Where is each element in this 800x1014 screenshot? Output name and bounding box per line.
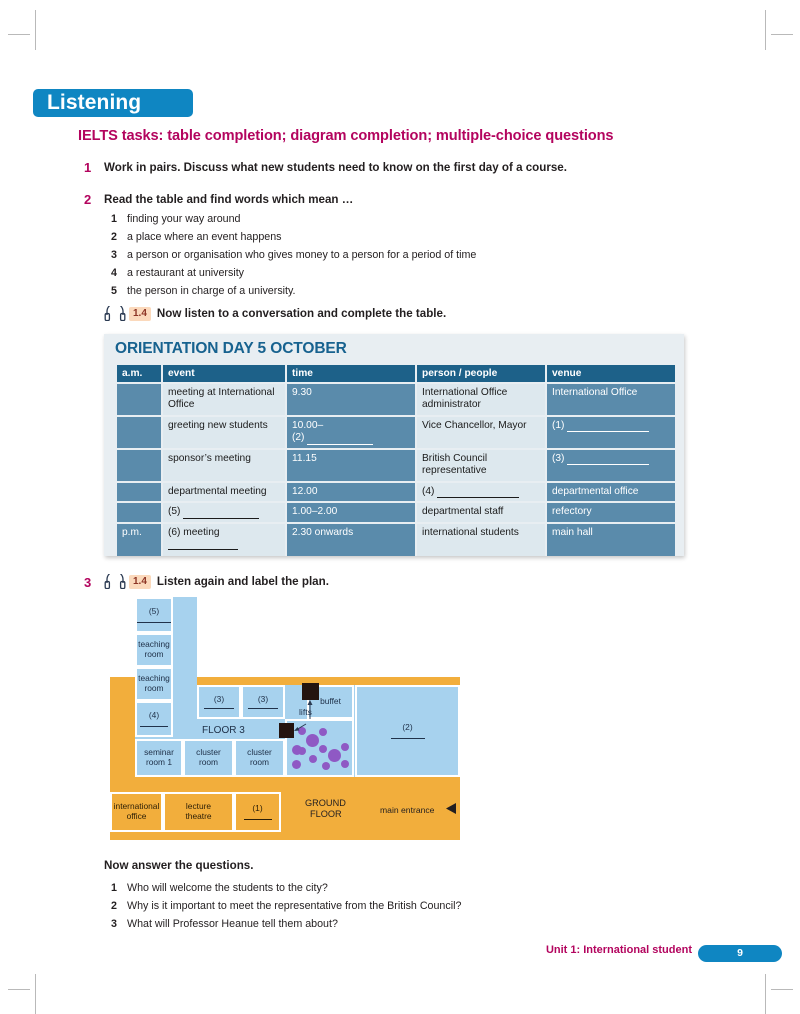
answer-blank[interactable] [567, 464, 649, 465]
answer-blank[interactable] [437, 497, 519, 498]
word-meaning-4-text: a restaurant at university [127, 267, 244, 279]
word-meaning-4-number: 4 [111, 267, 117, 279]
answer-blank[interactable] [307, 444, 373, 445]
cell-time-text: 10.00– [292, 420, 323, 431]
cell-venue-blank[interactable]: (3) [547, 450, 675, 481]
answer-blank[interactable] [168, 549, 238, 550]
cell-event-blank[interactable]: (5) [163, 503, 285, 521]
col-header-person: person / people [417, 365, 545, 382]
answer-blank[interactable] [183, 518, 259, 519]
col-header-event: event [163, 365, 285, 382]
cell-venue: International Office [547, 384, 675, 415]
audio-cue-text: Listen again and label the plan. [157, 575, 329, 588]
headphones-icon [104, 574, 126, 589]
question-1-number: 1 [111, 882, 117, 894]
page-number-badge: 9 [698, 945, 782, 962]
audio-track-badge: 1.4 [129, 307, 151, 321]
word-meaning-5-number: 5 [111, 285, 117, 297]
cell-venue: refectory [547, 503, 675, 521]
cell-person-blank[interactable]: (4) [417, 483, 545, 501]
question-2-text: Why is it important to meet the represen… [127, 900, 461, 912]
cell-venue: main hall [547, 524, 675, 556]
cell-time: 11.15 [287, 450, 415, 481]
section-banner-listening: Listening [33, 89, 193, 117]
question-3-text: What will Professor Heanue tell them abo… [127, 918, 338, 930]
col-header-ampm: a.m. [117, 365, 161, 382]
audio-cue-text: Now listen to a conversation and complet… [157, 307, 446, 320]
table-row: greeting new students 10.00– (2) Vice Ch… [117, 417, 675, 448]
table-title: ORIENTATION DAY 5 OCTOBER [115, 340, 347, 358]
crop-mark-top-left-h [8, 34, 30, 35]
lifts-label: lifts [299, 707, 312, 717]
cell-venue-blank[interactable]: (1) [547, 417, 675, 448]
cell-person: departmental staff [417, 503, 545, 521]
word-meaning-3-text: a person or organisation who gives money… [127, 249, 476, 261]
crop-mark-bottom-left-h [8, 989, 30, 990]
table-row: (5) 1.00–2.00 departmental staff refecto… [117, 503, 675, 521]
cell-event: meeting at International Office [163, 384, 285, 415]
floor-plan-diagram: (5) teaching room teaching room (4) semi… [110, 597, 460, 840]
crop-mark-bottom-left-v [35, 974, 36, 1014]
page-title: IELTS tasks: table completion; diagram c… [78, 128, 613, 144]
exercise-3-number: 3 [84, 575, 91, 590]
col-header-time: time [287, 365, 415, 382]
blank-label-3: (3) [552, 453, 564, 464]
cell-event-blank[interactable]: (6) meeting [163, 524, 285, 556]
exercise-2-text: Read the table and find words which mean… [104, 193, 353, 206]
word-meaning-2-text: a place where an event happens [127, 231, 282, 243]
cell-time: 9.30 [287, 384, 415, 415]
word-meaning-1-number: 1 [111, 213, 117, 225]
col-header-venue: venue [547, 365, 675, 382]
cell-ampm [117, 384, 161, 415]
cell-ampm: p.m. [117, 524, 161, 556]
cell-ampm [117, 417, 161, 448]
crop-mark-bottom-right-h [771, 989, 793, 990]
room-label: theatre [185, 812, 211, 822]
word-meaning-2-number: 2 [111, 231, 117, 243]
crop-mark-top-right-h [771, 34, 793, 35]
room-label: office [127, 812, 147, 822]
orientation-table-panel: ORIENTATION DAY 5 OCTOBER a.m. event tim… [104, 334, 684, 556]
orientation-table: a.m. event time person / people venue me… [115, 363, 677, 558]
room-lecture-theatre[interactable]: lecture theatre [163, 792, 234, 832]
question-1-text: Who will welcome the students to the cit… [127, 882, 328, 894]
cell-venue: departmental office [547, 483, 675, 501]
audio-cue-plan: 1.4 Listen again and label the plan. [104, 574, 329, 589]
answer-blank[interactable] [244, 819, 272, 820]
question-2-number: 2 [111, 900, 117, 912]
main-entrance-arrow-icon [446, 803, 458, 815]
room-international-office[interactable]: international office [110, 792, 163, 832]
blank-label-1: (1) [552, 420, 564, 431]
exercise-1-number: 1 [84, 160, 91, 175]
cell-person: Vice Chancellor, Mayor [417, 417, 545, 448]
cell-person: International Office administrator [417, 384, 545, 415]
table-row: departmental meeting 12.00 (4) departmen… [117, 483, 675, 501]
question-3-number: 3 [111, 918, 117, 930]
room-blank-1[interactable]: (1) [234, 792, 281, 832]
cell-ampm [117, 483, 161, 501]
audio-track-badge: 1.4 [129, 575, 151, 589]
cell-event: departmental meeting [163, 483, 285, 501]
table-row: sponsor’s meeting 11.15 British Council … [117, 450, 675, 481]
ground-floor-label-line2: FLOOR [310, 809, 342, 819]
crop-mark-top-right-v [765, 10, 766, 50]
blank-label-4: (4) [422, 486, 434, 497]
table-header-row: a.m. event time person / people venue [117, 365, 675, 382]
cell-ampm [117, 503, 161, 521]
cell-event: sponsor’s meeting [163, 450, 285, 481]
closing-prompt: Now answer the questions. [104, 859, 253, 872]
cell-ampm [117, 450, 161, 481]
answer-blank[interactable] [567, 431, 649, 432]
footer-unit-label: Unit 1: International student [546, 944, 692, 956]
ground-floor-label-line1: GROUND [305, 798, 346, 808]
main-entrance-label: main entrance [380, 805, 434, 815]
crop-mark-bottom-right-v [765, 974, 766, 1014]
room-label: (1) [252, 804, 262, 814]
word-meaning-1-text: finding your way around [127, 213, 240, 225]
floor3-label: FLOOR 3 [202, 725, 245, 736]
cell-person: British Council representative [417, 450, 545, 481]
blank-label-6: (6) meeting [168, 527, 220, 538]
blank-label-5: (5) [168, 506, 180, 517]
table-row: p.m. (6) meeting 2.30 onwards internatio… [117, 524, 675, 556]
headphones-icon [104, 306, 126, 321]
cell-event: greeting new students [163, 417, 285, 448]
exercise-1-text: Work in pairs. Discuss what new students… [104, 161, 567, 174]
blank-label-2: (2) [292, 432, 304, 443]
crop-mark-top-left-v [35, 10, 36, 50]
exercise-2-number: 2 [84, 192, 91, 207]
audio-cue-table: 1.4 Now listen to a conversation and com… [104, 306, 446, 321]
word-meaning-3-number: 3 [111, 249, 117, 261]
cell-time: 12.00 [287, 483, 415, 501]
word-meaning-5-text: the person in charge of a university. [127, 285, 296, 297]
cell-time-blank[interactable]: 10.00– (2) [287, 417, 415, 448]
cell-time: 1.00–2.00 [287, 503, 415, 521]
cell-time: 2.30 onwards [287, 524, 415, 556]
table-row: meeting at International Office 9.30 Int… [117, 384, 675, 415]
cell-person: international students [417, 524, 545, 556]
